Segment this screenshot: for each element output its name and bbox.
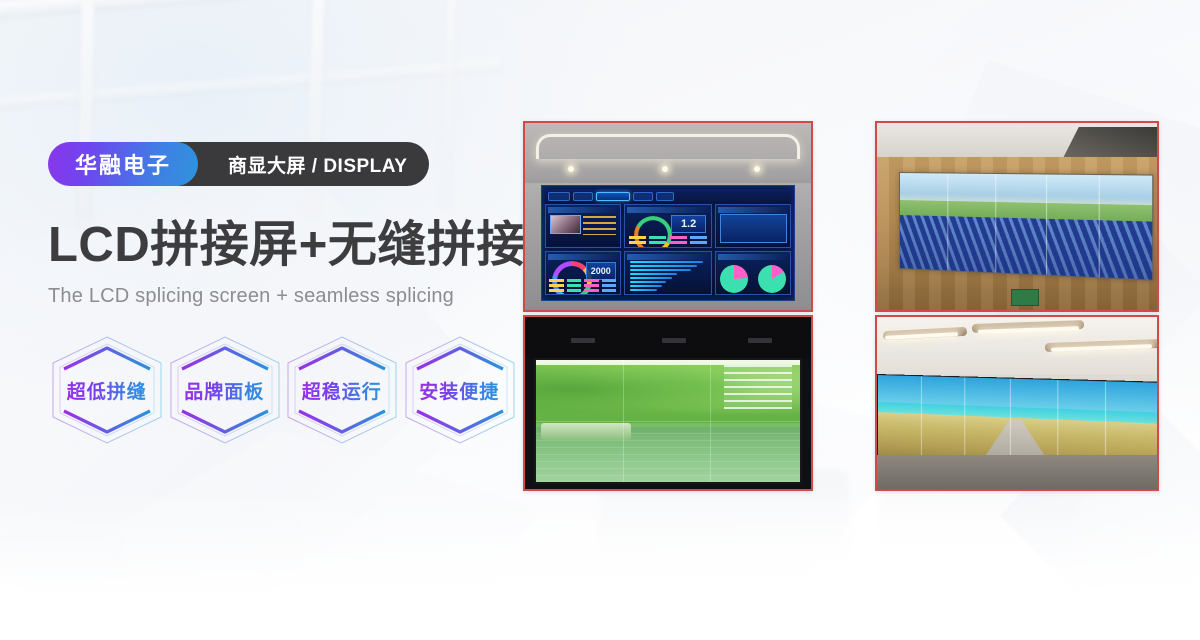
page-title: LCD拼接屏+无缝拼接 <box>48 220 518 271</box>
dashboard-screen: 1.2 2000 <box>541 185 796 301</box>
background-bottom-fade <box>0 490 1200 640</box>
feature-list: 超低拼缝 品牌面板 超稳运行 <box>48 334 518 446</box>
dashboard-kpi-primary: 1.2 <box>681 218 696 230</box>
brand-badge: 商显大屏 / DISPLAY 华融电子 <box>48 142 518 186</box>
page-subtitle: The LCD splicing screen + seamless splic… <box>48 285 518 308</box>
calendar-overlay <box>724 365 793 409</box>
brand-pill: 华融电子 <box>48 142 198 186</box>
photo-solar-farm-video-wall[interactable] <box>875 121 1159 312</box>
category-label: 商显大屏 / DISPLAY <box>228 151 407 178</box>
photo-image: 1.2 2000 <box>525 123 811 310</box>
feature-item-4: 安装便捷 <box>401 334 519 446</box>
solar-farm-screen <box>899 172 1154 281</box>
photo-image <box>877 123 1157 310</box>
brand-label: 华融电子 <box>75 148 171 180</box>
feature-item-1: 超低拼缝 <box>48 334 166 446</box>
product-photo-grid: 1.2 2000 <box>523 121 1159 491</box>
photo-image <box>877 317 1157 489</box>
photo-lakeside-video-wall[interactable] <box>523 315 813 491</box>
photo-dashboard-video-wall[interactable]: 1.2 2000 <box>523 121 813 312</box>
feature-label: 超稳运行 <box>302 377 382 404</box>
banner-text-column: 商显大屏 / DISPLAY 华融电子 LCD拼接屏+无缝拼接 The LCD … <box>48 142 518 446</box>
dashboard-kpi-secondary: 2000 <box>591 266 611 276</box>
feature-item-3: 超稳运行 <box>283 334 401 446</box>
lakeside-screen <box>534 358 803 484</box>
feature-label: 超低拼缝 <box>67 377 147 404</box>
banner-stage: 商显大屏 / DISPLAY 华融电子 LCD拼接屏+无缝拼接 The LCD … <box>0 0 1200 640</box>
feature-label: 安装便捷 <box>419 377 499 404</box>
photo-beach-boardwalk-video-wall[interactable] <box>875 315 1159 491</box>
category-pill: 商显大屏 / DISPLAY <box>158 142 429 186</box>
feature-item-2: 品牌面板 <box>166 334 284 446</box>
feature-label: 品牌面板 <box>184 377 264 404</box>
photo-image <box>525 317 811 489</box>
